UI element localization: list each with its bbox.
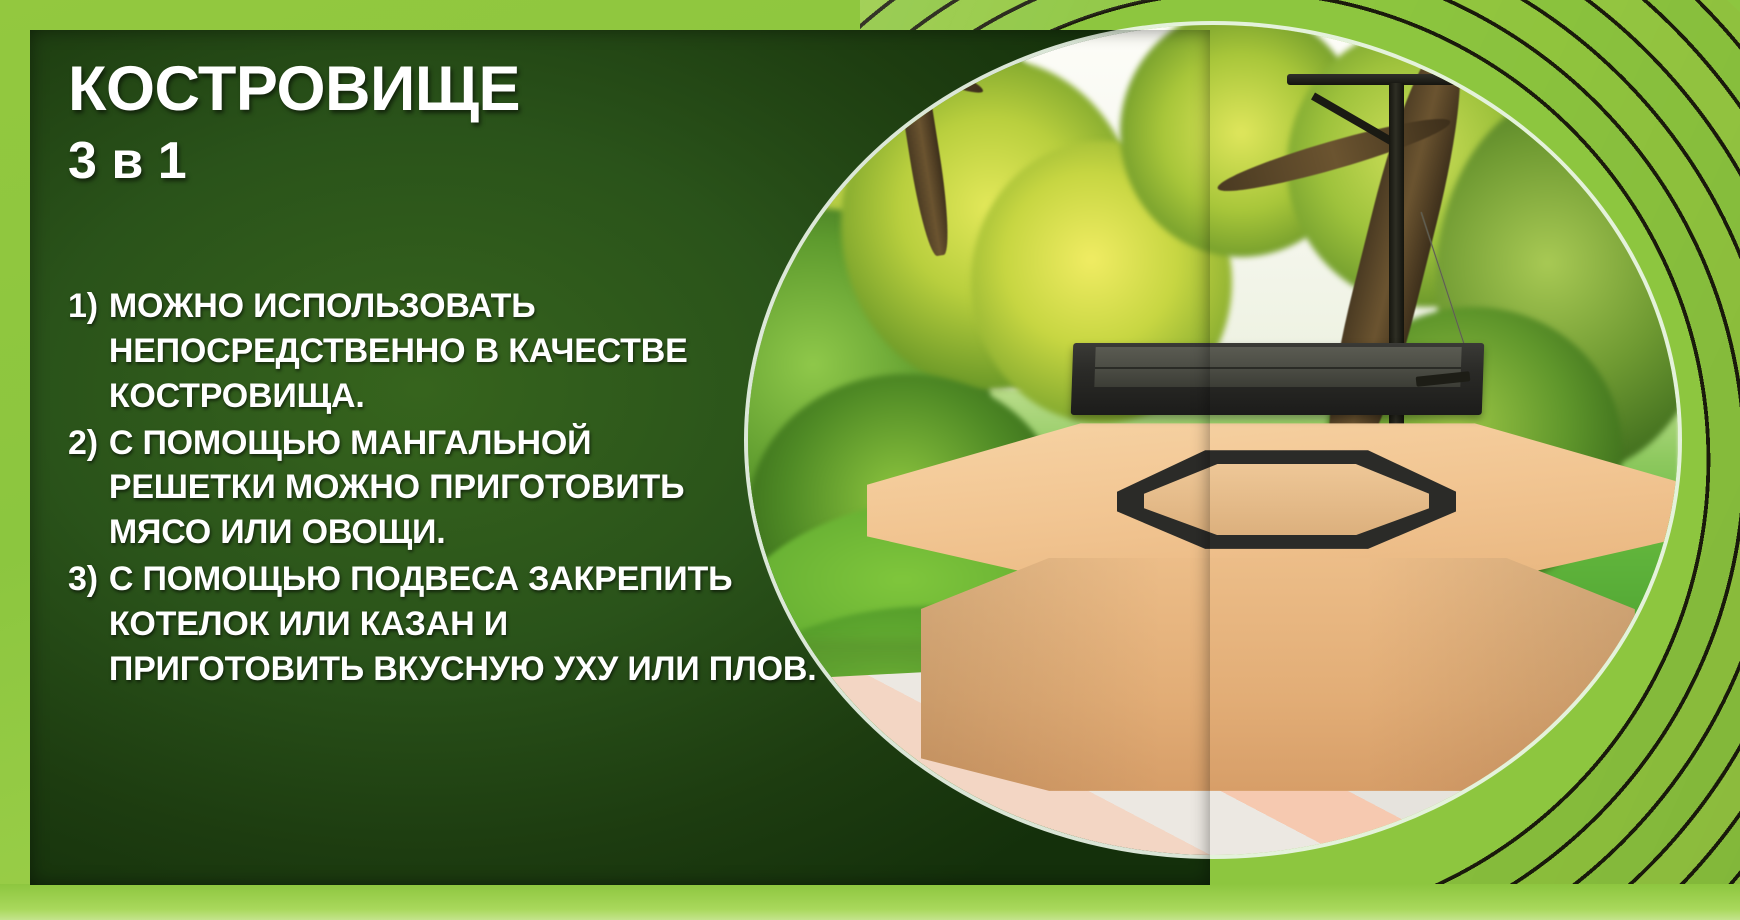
fire-pit-product (822, 423, 1678, 855)
list-item-marker: 2) (68, 421, 98, 556)
page-subtitle: 3 в 1 (68, 132, 708, 192)
grill-seam-line (1095, 367, 1461, 369)
list-item-text: МОЖНО ИСПОЛЬЗОВАТЬ НЕПОСРЕДСТВЕННО В КАЧ… (109, 284, 708, 419)
frame-bottom-strip (0, 884, 1740, 920)
poster-canvas: КОСТРОВИЩЕ 3 в 1 1) МОЖНО ИСПОЛЬЗОВАТЬ Н… (0, 0, 1740, 920)
list-item: 3) С ПОМОЩЬЮ ПОДВЕСА ЗАКРЕПИТЬ КОТЕЛОК И… (68, 557, 708, 692)
product-photo (748, 25, 1678, 855)
feature-list: 1) МОЖНО ИСПОЛЬЗОВАТЬ НЕПОСРЕДСТВЕННО В … (68, 284, 708, 692)
list-item-marker: 3) (68, 557, 98, 692)
list-item-marker: 1) (68, 284, 98, 419)
list-item-line: С ПОМОЩЬЮ ПОДВЕСА ЗАКРЕПИТЬ (109, 557, 817, 602)
list-item: 2) С ПОМОЩЬЮ МАНГАЛЬНОЙ РЕШЕТКИ МОЖНО ПР… (68, 421, 708, 556)
fire-pit-base-shading (921, 558, 1635, 791)
list-item-line: МОЖНО ИСПОЛЬЗОВАТЬ (109, 284, 708, 329)
product-photo-circle (748, 25, 1678, 855)
page-title: КОСТРОВИЩЕ (68, 56, 708, 122)
list-item-line: ПРИГОТОВИТЬ ВКУСНУЮ УХУ ИЛИ ПЛОВ. (109, 647, 817, 692)
list-item-line: НЕПОСРЕДСТВЕННО В КАЧЕСТВЕ (109, 329, 708, 374)
list-item-line: РЕШЕТКИ МОЖНО ПРИГОТОВИТЬ (109, 465, 708, 510)
list-item-line: КОТЕЛОК ИЛИ КАЗАН И (109, 602, 817, 647)
text-content-column: КОСТРОВИЩЕ 3 в 1 1) МОЖНО ИСПОЛЬЗОВАТЬ Н… (68, 56, 708, 694)
list-item-line: МЯСО ИЛИ ОВОЩИ. (109, 510, 708, 555)
list-item-line: КОСТРОВИЩА. (109, 374, 708, 419)
list-item-line: С ПОМОЩЬЮ МАНГАЛЬНОЙ (109, 421, 708, 466)
list-item-text: С ПОМОЩЬЮ ПОДВЕСА ЗАКРЕПИТЬ КОТЕЛОК ИЛИ … (109, 557, 817, 692)
list-item: 1) МОЖНО ИСПОЛЬЗОВАТЬ НЕПОСРЕДСТВЕННО В … (68, 284, 708, 419)
list-item-text: С ПОМОЩЬЮ МАНГАЛЬНОЙ РЕШЕТКИ МОЖНО ПРИГО… (109, 421, 708, 556)
